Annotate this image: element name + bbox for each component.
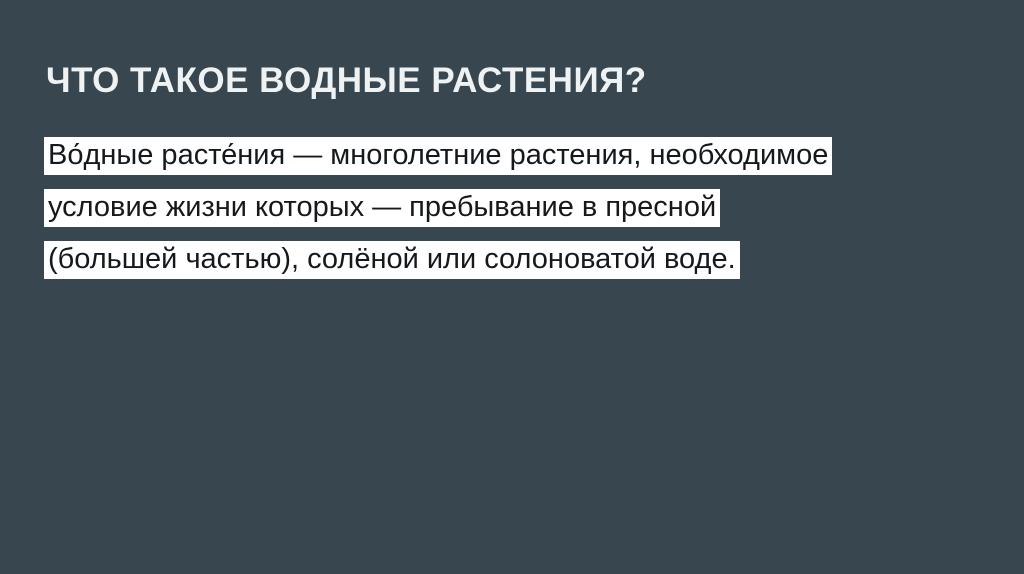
body-text-line: Во́дные расте́ния — многолетние растения…	[44, 133, 994, 185]
page-title: ЧТО ТАКОЕ ВОДНЫЕ РАСТЕНИЯ?	[46, 60, 966, 102]
highlighted-text: (большей частью), солёной или солоновато…	[44, 241, 740, 279]
slide-canvas: ЧТО ТАКОЕ ВОДНЫЕ РАСТЕНИЯ? Во́дные расте…	[0, 0, 1024, 574]
body-text-line: условие жизни которых — пребывание в пре…	[44, 185, 994, 237]
highlighted-text: Во́дные расте́ния — многолетние растения…	[44, 137, 832, 175]
highlighted-text: условие жизни которых — пребывание в пре…	[44, 189, 720, 227]
body-text-block: Во́дные расте́ния — многолетние растения…	[44, 133, 994, 289]
body-text-line: (большей частью), солёной или солоновато…	[44, 237, 994, 289]
